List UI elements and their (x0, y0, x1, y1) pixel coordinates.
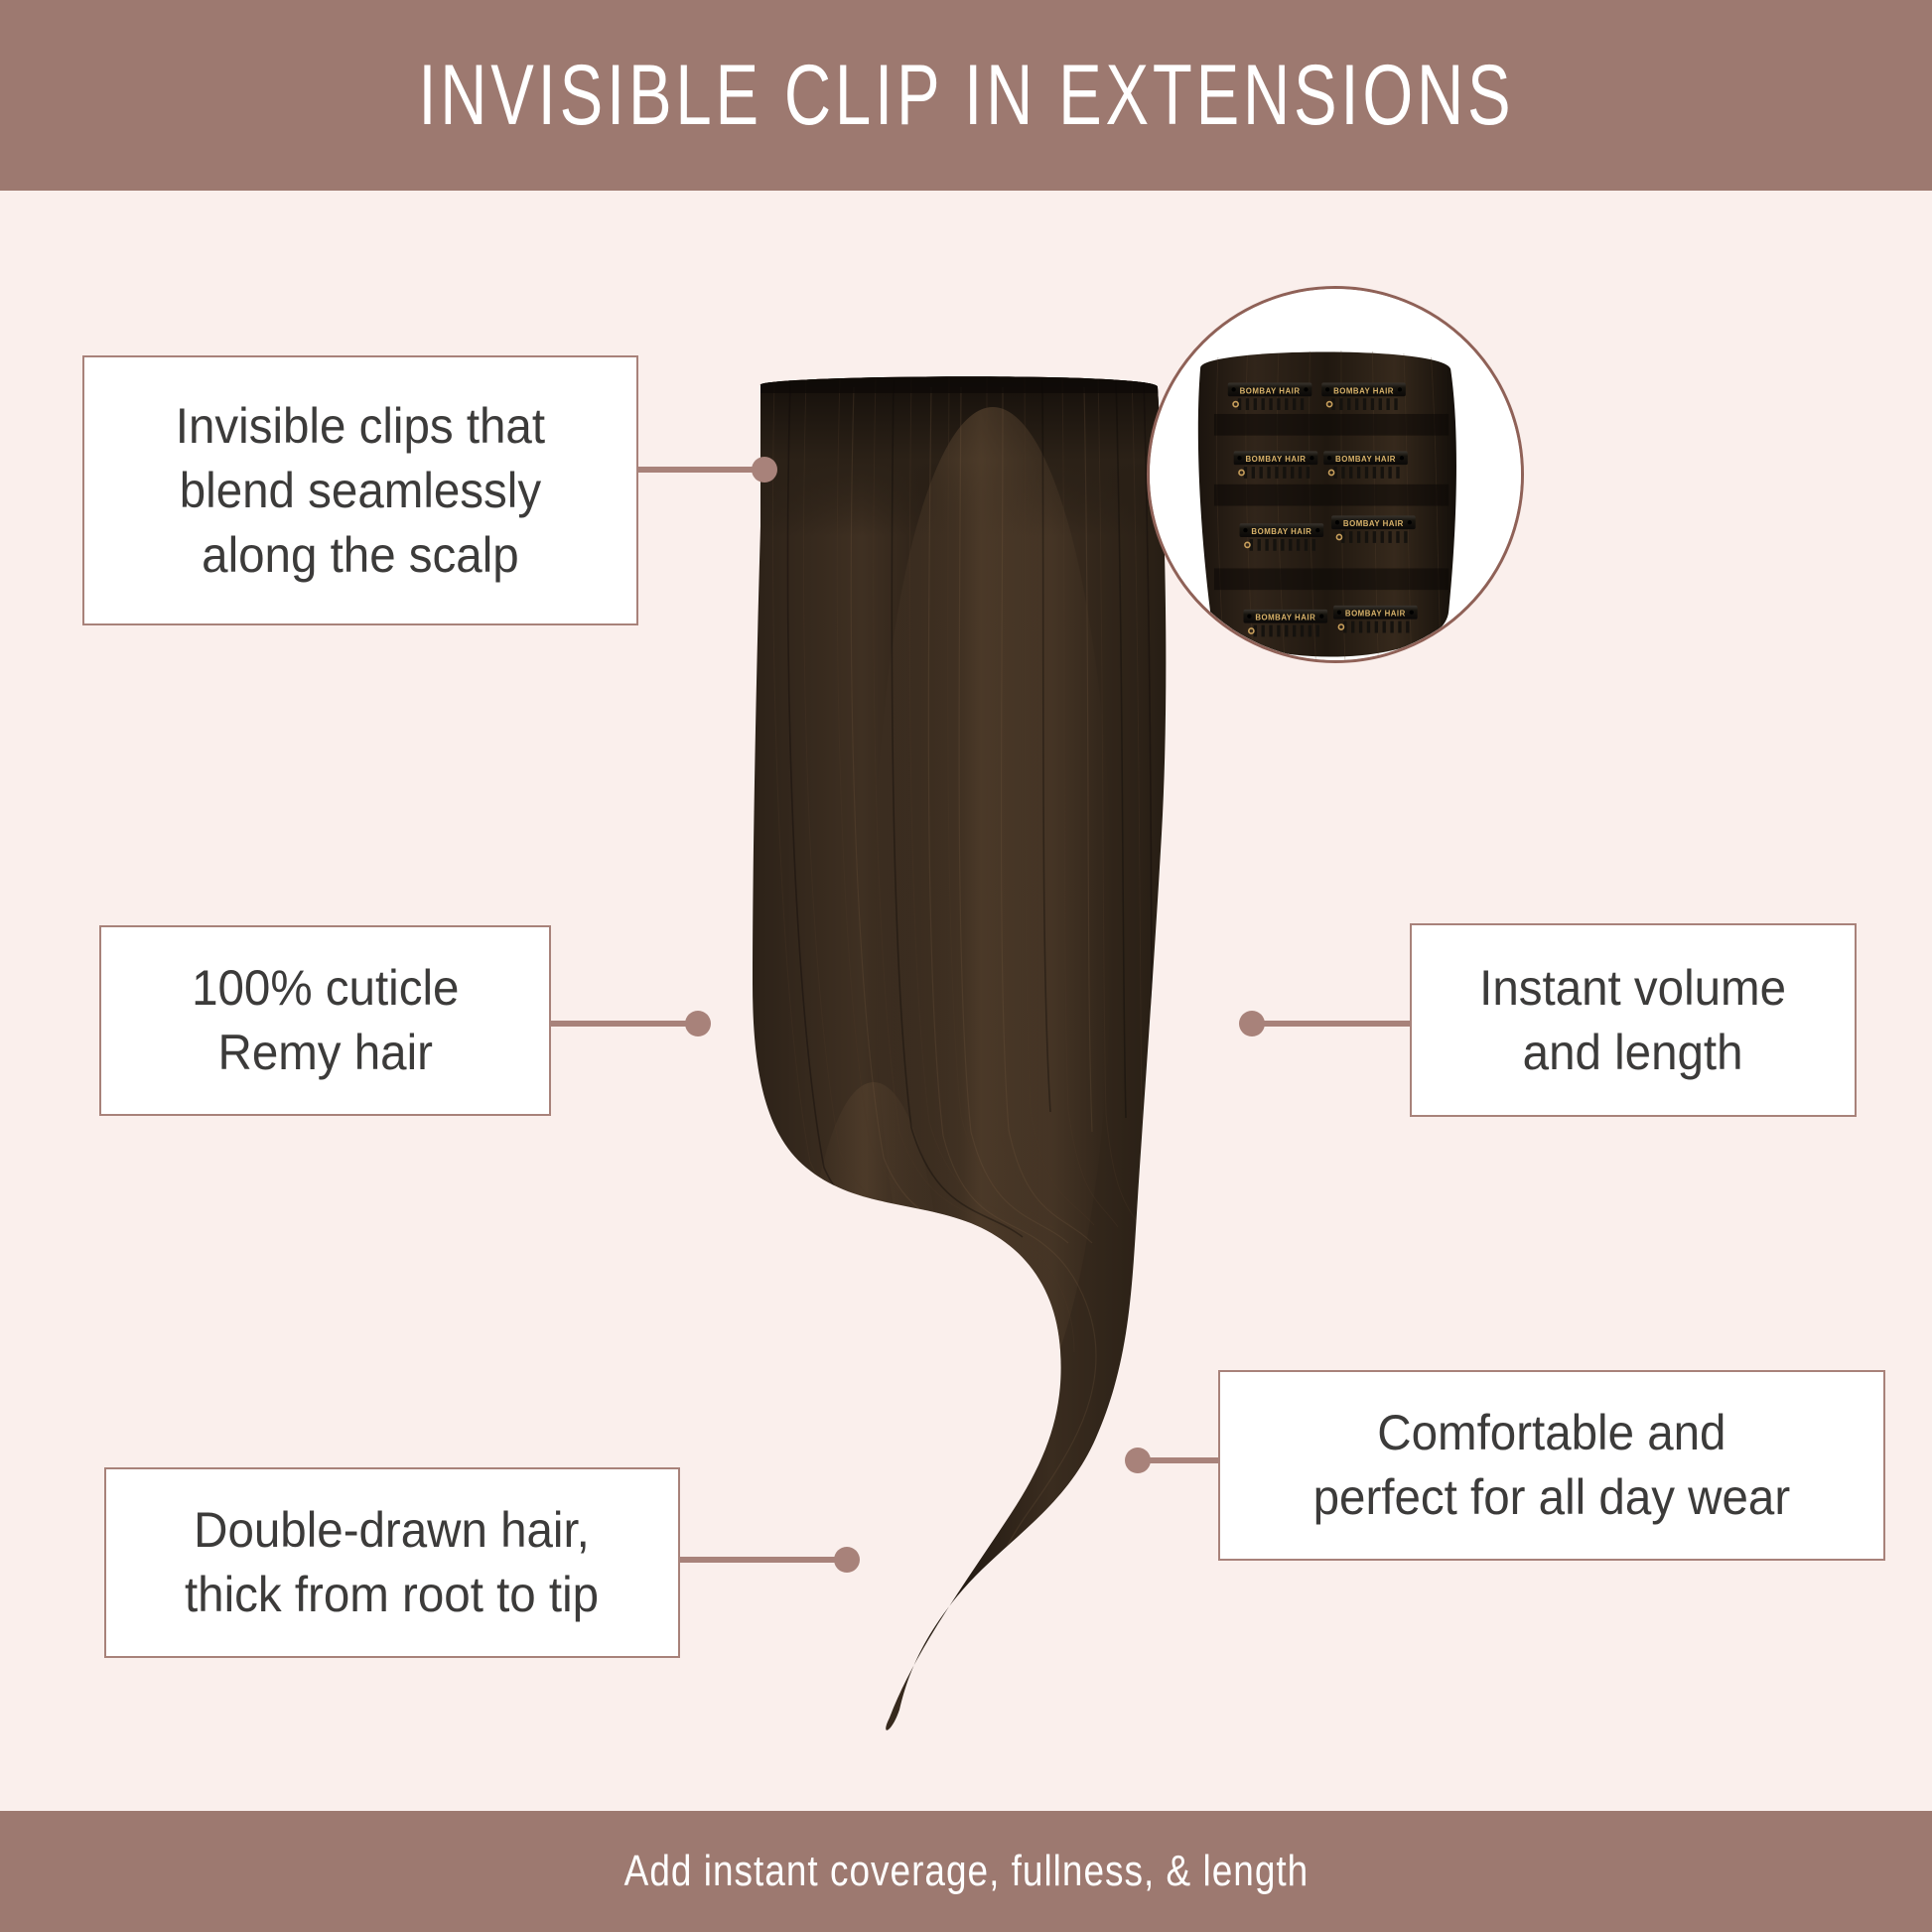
clip-detail-inset: BOMBAY HAIR BOMBAY HAIR (1147, 286, 1524, 663)
connector-dot-remy-hair (685, 1011, 711, 1036)
footer-bar: Add instant coverage, fullness, & length (0, 1811, 1932, 1932)
connector-dot-comfortable (1125, 1448, 1151, 1473)
svg-text:BOMBAY HAIR: BOMBAY HAIR (1343, 519, 1404, 528)
connector-line-remy-hair (551, 1021, 700, 1027)
svg-text:BOMBAY HAIR: BOMBAY HAIR (1345, 610, 1406, 619)
page-title: INVISIBLE CLIP IN EXTENSIONS (418, 53, 1514, 138)
connector-dot-invisible-clips (752, 457, 777, 483)
svg-text:BOMBAY HAIR: BOMBAY HAIR (1246, 455, 1307, 464)
header-bar: INVISIBLE CLIP IN EXTENSIONS (0, 0, 1932, 191)
svg-text:BOMBAY HAIR: BOMBAY HAIR (1335, 455, 1396, 464)
callout-text-double-drawn: Double-drawn hair, thick from root to ti… (185, 1498, 599, 1627)
footer-tagline: Add instant coverage, fullness, & length (623, 1847, 1309, 1896)
connector-line-double-drawn (680, 1557, 849, 1563)
svg-text:BOMBAY HAIR: BOMBAY HAIR (1251, 527, 1311, 536)
callout-box-double-drawn: Double-drawn hair, thick from root to ti… (104, 1467, 680, 1658)
connector-line-invisible-clips (638, 467, 764, 473)
svg-text:BOMBAY HAIR: BOMBAY HAIR (1255, 614, 1315, 622)
callout-box-comfortable: Comfortable and perfect for all day wear (1218, 1370, 1885, 1561)
callout-box-invisible-clips: Invisible clips that blend seamlessly al… (82, 355, 638, 625)
clip-detail-image: BOMBAY HAIR BOMBAY HAIR (1150, 289, 1521, 660)
callout-text-invisible-clips: Invisible clips that blend seamlessly al… (176, 394, 545, 588)
svg-text:BOMBAY HAIR: BOMBAY HAIR (1240, 386, 1301, 395)
callout-text-instant-volume: Instant volume and length (1480, 956, 1787, 1085)
connector-dot-double-drawn (834, 1547, 860, 1573)
callout-box-instant-volume: Instant volume and length (1410, 923, 1857, 1117)
callout-text-remy-hair: 100% cuticle Remy hair (192, 956, 459, 1085)
callout-text-comfortable: Comfortable and perfect for all day wear (1313, 1401, 1791, 1530)
infographic-canvas: INVISIBLE CLIP IN EXTENSIONS (0, 0, 1932, 1932)
callout-box-remy-hair: 100% cuticle Remy hair (99, 925, 551, 1116)
connector-line-instant-volume (1241, 1021, 1412, 1027)
connector-dot-instant-volume (1239, 1011, 1265, 1036)
svg-text:BOMBAY HAIR: BOMBAY HAIR (1333, 386, 1394, 395)
